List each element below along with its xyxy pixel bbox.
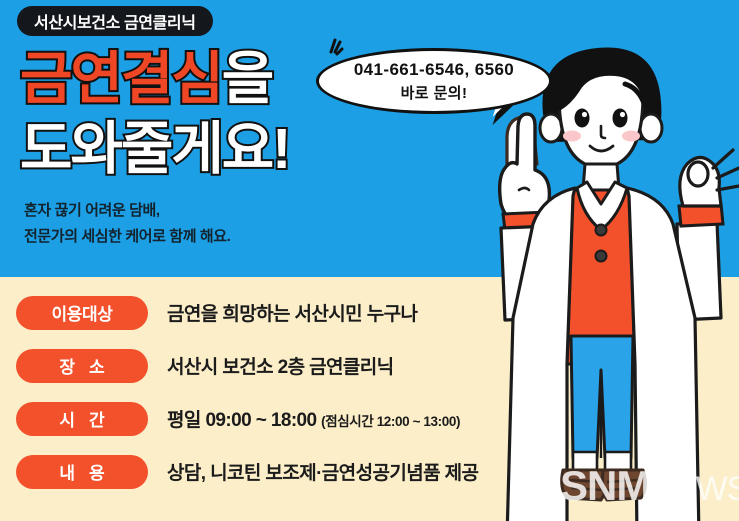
info-value-target: 금연을 희망하는 서산시민 누구나	[167, 299, 417, 326]
clinic-cta-text: 바로 문의!	[401, 82, 468, 103]
info-label-place: 장소	[16, 349, 148, 383]
info-row-time: 시간 평일 09:00 ~ 18:00 (점심시간 12:00 ~ 13:00)	[16, 394, 576, 443]
info-value-time-note: (점심시간 12:00 ~ 13:00)	[321, 414, 460, 429]
info-rows: 이용대상 금연을 희망하는 서산시민 누구나 장소 서산시 보건소 2층 금연클…	[16, 288, 576, 500]
info-row-target: 이용대상 금연을 희망하는 서산시민 누구나	[16, 288, 576, 337]
headline-line-2: 도와줄게요!	[20, 116, 380, 182]
info-row-place: 장소 서산시 보건소 2층 금연클리닉	[16, 341, 576, 390]
header-badge: 서산시보건소 금연클리닉	[17, 6, 213, 36]
headline-red-text: 금연결심	[20, 47, 222, 111]
subcopy-block: 혼자 끊기 어려운 담배, 전문가의 세심한 케어로 함께 해요.	[24, 198, 230, 251]
headline-white-particle: 을	[222, 47, 272, 111]
info-label-time: 시간	[16, 402, 148, 436]
info-value-time-main: 평일 09:00 ~ 18:00	[167, 410, 316, 431]
info-value-place: 서산시 보건소 2층 금연클리닉	[167, 352, 394, 379]
poster-canvas: 서산시보건소 금연클리닉 금연결심을 도와줄게요! 혼자 끊기 어려운 담배, …	[0, 0, 739, 521]
clinic-phone-number: 041-661-6546, 6560	[354, 60, 514, 80]
subcopy-line-2: 전문가의 세심한 케어로 함께 해요.	[24, 224, 230, 250]
subcopy-line-1: 혼자 끊기 어려운 담배,	[24, 198, 230, 224]
info-value-time: 평일 09:00 ~ 18:00 (점심시간 12:00 ~ 13:00)	[167, 405, 460, 432]
info-value-content: 상담, 니코틴 보조제·금연성공기념품 제공	[167, 458, 478, 485]
info-label-target: 이용대상	[16, 296, 148, 330]
speech-bubble: 041-661-6546, 6560 바로 문의!	[316, 48, 552, 114]
spark-icon	[322, 38, 346, 60]
info-row-content: 내용 상담, 니코틴 보조제·금연성공기념품 제공	[16, 447, 576, 496]
info-label-content: 내용	[16, 455, 148, 489]
